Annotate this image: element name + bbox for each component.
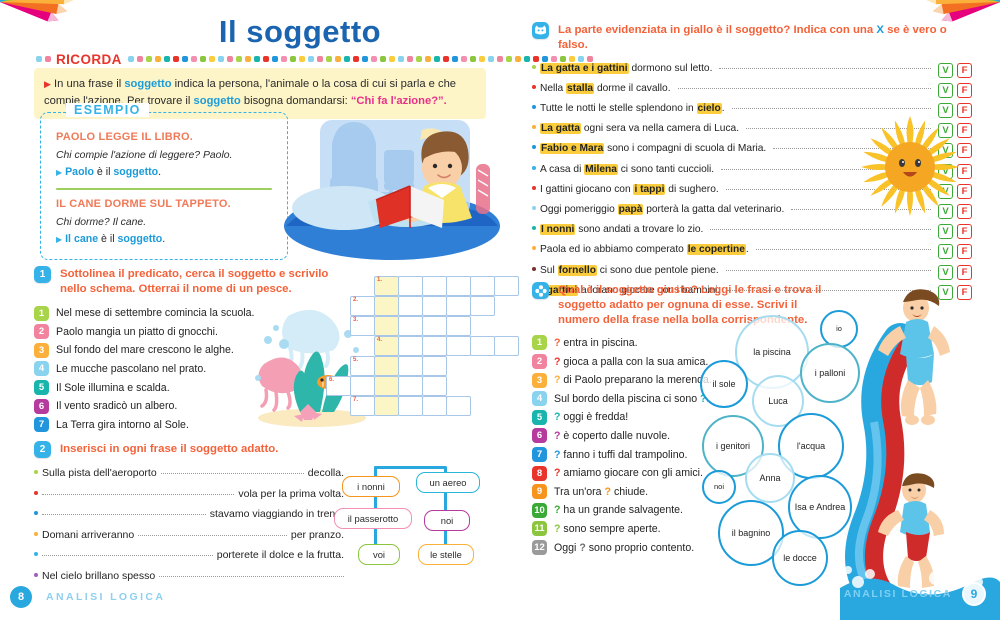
exercise-2-line[interactable]: Sulla pista dell'aeroportodecolla. [34,467,344,479]
item-number-badge: 7 [34,417,49,432]
true-false-choices: VF [938,164,972,179]
leader-dots [732,108,931,109]
exercise-1-instruction: Sottolinea il predicato, cerca il sogget… [60,266,334,297]
exercise-4-item[interactable]: La gatta ogni sera va nella camera di Lu… [532,121,972,136]
crossword-cell-number: 7. [353,397,358,403]
crossword-cell[interactable] [422,336,447,356]
leader-dots [726,189,931,190]
exercise-4-item[interactable]: Sul fornello ci sono due pentole piene.V… [532,263,972,278]
sentence-text: Oggi pomeriggio papà porterà la gatta da… [540,204,784,215]
crossword-cell[interactable]: 1. [374,276,399,296]
crossword-cell[interactable] [422,316,447,336]
true-option[interactable]: V [938,123,953,138]
item-number-badge: 4 [34,361,49,376]
bullet-dot [532,206,536,210]
crossword-cell[interactable] [494,336,519,356]
sentence-text: Fabio e Mara sono i compagni di scuola d… [540,143,766,154]
crossword-spacer [326,316,351,336]
true-option[interactable]: V [938,224,953,239]
exercise-2: 2 Inserisci in ogni frase il soggetto ad… [34,441,344,590]
sentence-text: Sul fornello ci sono due pentole piene. [540,265,719,276]
crossword-grid[interactable]: 1.2.3.4.5.6.7. [326,276,518,416]
ricorda-dot [200,56,206,62]
esempio-title: ESEMPIO [66,103,149,117]
highlighted-subject: La gatta e i gattini [540,63,629,74]
line-text-pre: Domani arriveranno [42,529,134,541]
crossword-cell[interactable] [374,316,399,336]
highlighted-subject: stalla [566,83,594,94]
crossword-cell[interactable] [374,376,399,396]
blank-field[interactable] [42,514,206,515]
page-number-right: 9 [962,582,986,606]
highlighted-subject: papà [618,204,644,215]
flower-icon [532,282,549,299]
false-option[interactable]: F [957,83,972,98]
true-option[interactable]: V [938,143,953,158]
item-number-badge: 3 [34,343,49,358]
true-option[interactable]: V [938,285,953,300]
false-option[interactable]: F [957,265,972,280]
ricorda-dot [416,56,422,62]
bullet-dot [532,226,536,230]
ricorda-dot [137,56,143,62]
ricorda-keyword-2: soggetto [194,95,241,107]
ricorda-dot [506,56,512,62]
item-number-badge: 1 [532,335,547,350]
pencil-icon: 2 [34,441,51,458]
crossword-row: 7. [326,396,518,416]
true-option[interactable]: V [938,103,953,118]
item-number-badge: 5 [532,410,547,425]
item-text: ? fanno i tuffi dal trampolino. [554,449,688,461]
line-text-pre: Nel cielo brillano spesso [42,570,155,582]
exercise-1-item[interactable]: 5Il Sole illumina e scalda. [34,380,334,395]
ricorda-dot [389,56,395,62]
blank-field[interactable] [138,535,287,536]
line-text-post: stavamo viaggiando in treno. [210,508,344,520]
exercise-1-item[interactable]: 1Nel mese di settembre comincia la scuol… [34,306,334,321]
true-false-choices: VF [938,63,972,78]
item-number-badge: 5 [34,380,49,395]
false-option[interactable]: F [957,244,972,259]
exercise-1-item[interactable]: 4Le mucche pascolano nel prato. [34,361,334,376]
workbook-page: Il soggetto RICORDA ▶ In una frase il so… [0,0,1000,620]
crossword-spacer [350,276,375,296]
bullet-dot [34,573,38,577]
word-tag[interactable]: i nonni [342,476,400,497]
false-option[interactable]: F [957,285,972,300]
sentence-text: Paola ed io abbiamo comperato le coperti… [540,244,749,255]
exercise-4-item[interactable]: Nella stalla dorme il cavallo.VF [532,81,972,96]
ricorda-dot [479,56,485,62]
false-option[interactable]: F [957,103,972,118]
exercise-2-instruction: Inserisci in ogni frase il soggetto adat… [60,441,278,457]
crossword-cell-number: 1. [377,277,382,283]
bullet-dot [532,186,536,190]
false-option[interactable]: F [957,184,972,199]
ricorda-keyword-1: soggetto [124,78,171,90]
crossword-row: 1. [326,276,518,296]
sentence-text: La gatta ogni sera va nella camera di Lu… [540,123,739,134]
crossword-cell[interactable]: 4. [374,336,399,356]
crossword-row: 6. [326,376,518,396]
crossword-cell[interactable] [470,296,495,316]
highlighted-subject: le copertine [687,244,746,255]
crossword-cell[interactable] [446,396,471,416]
true-false-choices: VF [938,224,972,239]
ricorda-dot [362,56,368,62]
crossword-cell[interactable] [374,296,399,316]
item-text: La Terra gira intorno al Sole. [56,419,189,431]
ricorda-dot [272,56,278,62]
ricorda-dot [524,56,530,62]
sentence-text: Nella stalla dorme il cavallo. [540,83,671,94]
true-option[interactable]: V [938,83,953,98]
ricorda-dot [146,56,152,62]
exercise-1-item[interactable]: 7La Terra gira intorno al Sole. [34,417,334,432]
exercise-4-x-mark: X [876,24,884,36]
ricorda-dot [182,56,188,62]
crossword-cell[interactable] [398,296,423,316]
item-text: ? è coperto dalle nuvole. [554,430,670,442]
true-option[interactable]: V [938,244,953,259]
highlighted-subject: cielo [697,103,722,114]
crossword-cell-number: 6. [329,377,334,383]
ricorda-dot [434,56,440,62]
ricorda-dot [380,56,386,62]
true-false-choices: VF [938,83,972,98]
crossword-row: 2. [326,296,518,316]
crossword-cell[interactable] [446,296,471,316]
ricorda-dot [488,56,494,62]
page-number-left: 8 [10,586,32,608]
crossword-cell[interactable] [398,376,423,396]
crossword-cell[interactable] [398,276,423,296]
crossword-row: 3. [326,316,518,336]
item-number-badge: 12 [532,540,547,555]
crossword-cell[interactable] [398,396,423,416]
exercise-4-instruction: La parte evidenziata in giallo è il sogg… [558,22,972,53]
crossword-cell[interactable] [422,356,447,376]
exercise-4-item[interactable]: Oggi pomeriggio papà porterà la gatta da… [532,202,972,217]
crossword-cell[interactable]: 3. [350,316,375,336]
ricorda-dot [218,56,224,62]
blank-field[interactable] [159,576,344,577]
item-number-badge: 2 [532,354,547,369]
highlighted-subject: I nonni [540,224,575,235]
ricorda-dot [263,56,269,62]
bullet-dot [34,511,38,515]
bullet-dot [532,166,536,170]
true-option[interactable]: V [938,204,953,219]
bullet-dot [34,552,38,556]
exercise-4-instruction-pre: La parte evidenziata in giallo è il sogg… [558,24,876,36]
crossword-row: 4. [326,336,518,356]
true-false-choices: VF [938,265,972,280]
exercise-4-list: La gatta e i gattini dormono sul letto.V… [532,61,972,298]
ricorda-dot [497,56,503,62]
ricorda-dot [209,56,215,62]
bullet-dot [34,491,38,495]
ricorda-dot [407,56,413,62]
crossword-row: 5. [326,356,518,376]
ricorda-text-3: bisogna domandarsi: [241,95,351,107]
item-text: Il vento sradicò un albero. [56,400,177,412]
sentence-text: I gattini giocano con i tappi di sughero… [540,184,719,195]
cat-icon [532,22,549,39]
ricorda-header: RICORDA [36,52,486,66]
word-tag[interactable]: noi [424,510,470,531]
ricorda-question: “Chi fa l'azione?”. [351,95,447,107]
sentence-text: I nonni sono andati a trovare lo zio. [540,224,703,235]
true-false-choices: VF [938,285,972,300]
ricorda-dot [227,56,233,62]
word-bank-tree: i nonniun aereoil passerottonoivoile ste… [334,462,486,572]
leader-dots [710,229,931,230]
bullet-dot [532,125,536,129]
ricorda-dot [191,56,197,62]
leader-dots [791,209,931,210]
answer-bubble[interactable]: i palloni [800,343,860,403]
leader-dots [719,68,931,69]
ricorda-dot [299,56,305,62]
word-tag[interactable]: le stelle [418,544,474,565]
footer-label-right: ANALISI LOGICA [844,588,952,600]
word-tag[interactable]: il passerotto [334,508,412,529]
ricorda-dot [254,56,260,62]
exercise-4-item[interactable]: Fabio e Mara sono i compagni di scuola d… [532,141,972,156]
leader-dots [746,128,931,129]
item-number-badge: 10 [532,503,547,518]
footer-left: 8 ANALISI LOGICA [10,586,165,608]
crossword-cell[interactable] [470,336,495,356]
item-number-badge: 7 [532,447,547,462]
item-text: ? amiamo giocare con gli amici. [554,467,703,479]
ricorda-dot [344,56,350,62]
crossword-cell[interactable] [494,276,519,296]
exercise-1-item[interactable]: 2Paolo mangia un piatto di gnocchi. [34,324,334,339]
exercise-1-item[interactable]: 3Sul fondo del mare crescono le alghe. [34,343,334,358]
exercise-4-item[interactable]: Paola ed io abbiamo comperato le coperti… [532,242,972,257]
exercise-2-line[interactable]: Domani arriverannoper pranzo. [34,529,344,541]
true-false-choices: VF [938,123,972,138]
crossword-cell[interactable] [374,356,399,376]
answer-bubble[interactable]: Anna [745,453,795,503]
ricorda-dot [443,56,449,62]
exercise-4-item[interactable]: A casa di Milena ci sono tanti cuccioli.… [532,162,972,177]
crossword-cell[interactable] [422,296,447,316]
crossword-spacer [326,276,351,296]
true-false-choices: VF [938,204,972,219]
footer-right: ANALISI LOGICA 9 [844,582,986,606]
exercise-4-item[interactable]: I nonni sono andati a trovare lo zio.VF [532,222,972,237]
item-text: ? gioca a palla con la sua amica. [554,356,708,368]
exercise-4-item[interactable]: La gatta e i gattini dormono sul letto.V… [532,61,972,76]
crossword-cell[interactable]: 7. [350,396,375,416]
item-text: ? di Paolo preparano la merenda. [554,374,712,386]
page-title: Il soggetto [110,14,490,50]
ricorda-dot [335,56,341,62]
crossword-cell-number: 2. [353,297,358,303]
item-number-badge: 9 [532,484,547,499]
highlighted-subject: fornello [558,265,597,276]
footer-label-left: ANALISI LOGICA [46,591,165,603]
highlighted-subject: i tappi [633,184,665,195]
exercise-2-line[interactable]: porterete il dolce e la frutta. [34,549,344,561]
item-text: Le mucche pascolano nel prato. [56,363,206,375]
crossword-cell[interactable] [470,276,495,296]
bullet-dot [532,246,536,250]
crossword-spacer [326,336,351,356]
crossword-cell[interactable] [398,316,423,336]
item-number-badge: 11 [532,521,547,536]
crossword-cell[interactable] [350,376,375,396]
bullet-dot [532,267,536,271]
true-option[interactable]: V [938,265,953,280]
answer-bubbles[interactable]: la piscinaioi palloniil soleLucai genito… [690,305,870,575]
highlighted-subject: Fabio e Mara [540,143,604,154]
answer-bubble[interactable]: noi [702,470,736,504]
word-tag[interactable]: voi [358,544,400,565]
ricorda-dot [515,56,521,62]
ricorda-dot [173,56,179,62]
pencil-icon: 1 [34,266,51,283]
exercise-1-heading: 1 Sottolinea il predicato, cerca il sogg… [34,266,334,297]
true-option[interactable]: V [938,164,953,179]
exercise-4-heading: La parte evidenziata in giallo è il sogg… [532,22,972,53]
ricorda-text-1: In una frase il [54,78,124,90]
crossword-spacer [350,336,375,356]
ricorda-dot [281,56,287,62]
crossword-cell[interactable] [422,396,447,416]
crossword-cell[interactable] [398,336,423,356]
item-number-badge: 6 [532,428,547,443]
true-option[interactable]: V [938,184,953,199]
false-option[interactable]: F [957,224,972,239]
leader-dots [678,88,931,89]
crossword-spacer [326,356,351,376]
crossword-cell[interactable] [422,376,447,396]
blank-field[interactable] [161,473,304,474]
item-number-badge: 2 [34,324,49,339]
crossword-cell[interactable] [446,276,471,296]
false-option[interactable]: F [957,123,972,138]
crossword-cell[interactable]: 5. [350,356,375,376]
item-number-badge: 6 [34,399,49,414]
tree-connector [374,466,446,469]
ricorda-dot [245,56,251,62]
leader-dots [756,249,931,250]
blank-field[interactable] [42,555,213,556]
exercise-1-item[interactable]: 6Il vento sradicò un albero. [34,399,334,414]
answer-bubble[interactable]: il sole [700,360,748,408]
item-number-badge: 3 [532,373,547,388]
exercise-2-lines: Sulla pista dell'aeroportodecolla.vola p… [34,467,344,582]
item-text: Sul fondo del mare crescono le alghe. [56,344,234,356]
ricorda-dot [308,56,314,62]
false-option[interactable]: F [957,143,972,158]
exercise-2-line[interactable]: Nel cielo brillano spesso [34,570,344,582]
ricorda-dot [155,56,161,62]
ricorda-dot [236,56,242,62]
bullet-dot [532,105,536,109]
crossword-spacer [326,296,351,316]
word-tag[interactable]: un aereo [416,472,480,493]
false-option[interactable]: F [957,204,972,219]
item-text: Paolo mangia un piatto di gnocchi. [56,326,218,338]
boy-reading-illustration [272,104,502,264]
line-text-pre: Sulla pista dell'aeroporto [42,467,157,479]
true-false-choices: VF [938,143,972,158]
true-false-choices: VF [938,244,972,259]
exercise-4-item[interactable]: I gattini giocano con i tappi di sughero… [532,182,972,197]
crossword-cell-number: 5. [353,357,358,363]
item-text: ? entra in piscina. [554,337,638,349]
crossword-cell[interactable] [446,336,471,356]
ricorda-dot-strip [128,56,593,62]
item-number-badge: 4 [532,391,547,406]
exercise-4: La parte evidenziata in giallo è il sogg… [532,22,972,303]
bullet-dot [532,85,536,89]
item-number-badge: 8 [532,466,547,481]
crossword-cell[interactable]: 2. [350,296,375,316]
crossword-cell-number: 3. [353,317,358,323]
ricorda-label: RICORDA [56,52,122,67]
ricorda-dot [461,56,467,62]
item-text: ? oggi è fredda! [554,411,628,423]
bullet-dot [34,470,38,474]
leader-dots [726,270,931,271]
true-option[interactable]: V [938,63,953,78]
crossword-cell[interactable] [398,356,423,376]
crossword-cell[interactable] [446,316,471,336]
blank-field[interactable] [42,494,234,495]
crossword-cell[interactable] [374,396,399,416]
crossword-cell[interactable]: 6. [326,376,351,396]
item-text: Il Sole illumina e scalda. [56,382,170,394]
exercise-2-line[interactable]: vola per la prima volta. [34,488,344,500]
answer-bubble[interactable]: le docce [772,530,828,586]
exercise-2-heading: 2 Inserisci in ogni frase il soggetto ad… [34,441,344,458]
highlighted-subject: Milena [584,164,618,175]
crossword-cell[interactable] [422,276,447,296]
ricorda-dot [326,56,332,62]
crossword-spacer [326,396,351,416]
exercise-2-line[interactable]: stavamo viaggiando in treno. [34,508,344,520]
ricorda-dot [470,56,476,62]
sentence-text: Tutte le notti le stelle splendono in ci… [540,103,725,114]
sentence-text: La gatta e i gattini dormono sul letto. [540,63,712,74]
ricorda-dot [290,56,296,62]
exercise-4-item[interactable]: Tutte le notti le stelle splendono in ci… [532,101,972,116]
ricorda-dot [317,56,323,62]
bullet-dot [34,532,38,536]
true-false-choices: VF [938,103,972,118]
item-text: ? sono sempre aperte. [554,523,661,535]
false-option[interactable]: F [957,63,972,78]
leader-dots [721,169,931,170]
ricorda-dot [164,56,170,62]
ricorda-dot [425,56,431,62]
item-text: Tra un'ora ? chiude. [554,486,648,498]
false-option[interactable]: F [957,164,972,179]
line-text-post: vola per la prima volta. [238,488,344,500]
true-false-choices: VF [938,184,972,199]
leader-dots [773,148,931,149]
ricorda-dot [128,56,134,62]
exercise-1-list: 1Nel mese di settembre comincia la scuol… [34,306,334,433]
item-text: ? ha un grande salvagente. [554,504,683,516]
